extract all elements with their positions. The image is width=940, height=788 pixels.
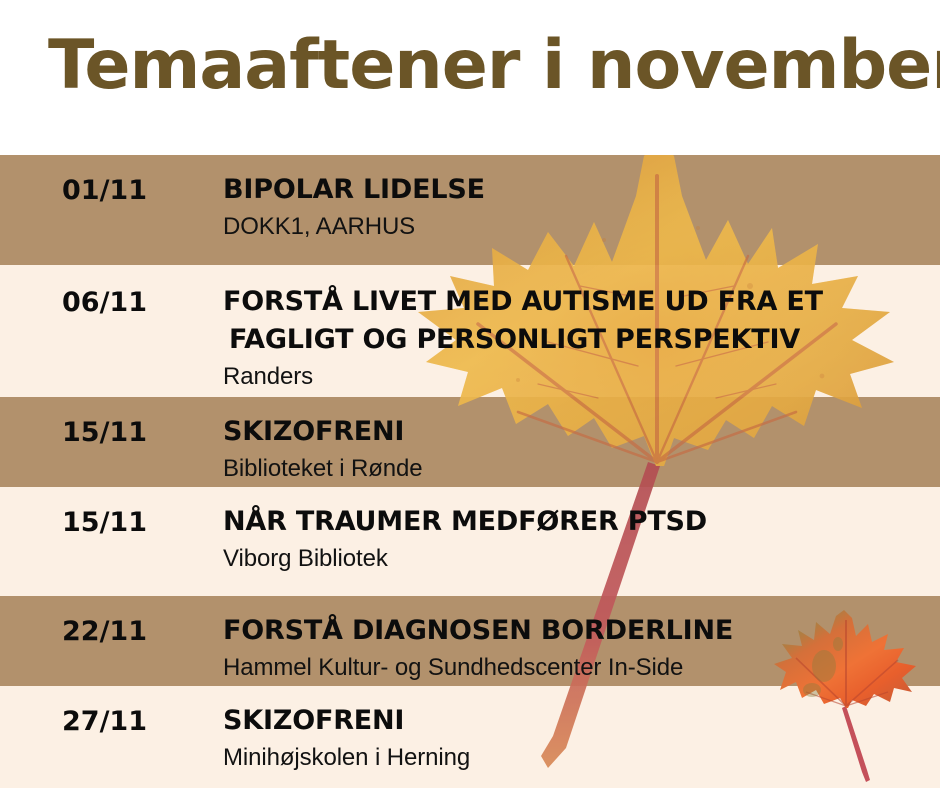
event-details: SKIZOFRENIBiblioteket i Rønde bbox=[223, 413, 940, 485]
title-area: Temaaftener i november bbox=[0, 0, 940, 155]
event-venue: Hammel Kultur- og Sundhedscenter In-Side bbox=[223, 652, 940, 684]
event-venue: DOKK1, AARHUS bbox=[223, 211, 940, 243]
event-details: SKIZOFRENIMinihøjskolen i Herning bbox=[223, 702, 940, 774]
event-details: BIPOLAR LIDELSEDOKK1, AARHUS bbox=[223, 171, 940, 243]
event-title-line-1: FORSTÅ DIAGNOSEN BORDERLINE bbox=[223, 615, 733, 646]
event-venue: Randers bbox=[223, 361, 940, 393]
event-title-line-1: SKIZOFRENI bbox=[223, 416, 404, 447]
page-title: Temaaftener i november bbox=[48, 24, 940, 108]
event-venue: Viborg Bibliotek bbox=[223, 543, 940, 575]
event-details: FORSTÅ DIAGNOSEN BORDERLINEHammel Kultur… bbox=[223, 612, 940, 684]
event-title: NÅR TRAUMER MEDFØRER PTSD bbox=[223, 503, 940, 541]
event-title: SKIZOFRENI bbox=[223, 413, 940, 451]
event-title: SKIZOFRENI bbox=[223, 702, 940, 740]
event-date: 27/11 bbox=[62, 706, 147, 737]
schedule-row[interactable]: 15/11NÅR TRAUMER MEDFØRER PTSDViborg Bib… bbox=[0, 487, 940, 596]
schedule-row[interactable]: 06/11FORSTÅ LIVET MED AUTISME UD FRA ETF… bbox=[0, 265, 940, 397]
poster-canvas: Temaaftener i november 01/11BIPOLAR LIDE… bbox=[0, 0, 940, 788]
schedule-row[interactable]: 01/11BIPOLAR LIDELSEDOKK1, AARHUS bbox=[0, 155, 940, 265]
schedule-row[interactable]: 22/11FORSTÅ DIAGNOSEN BORDERLINEHammel K… bbox=[0, 596, 940, 686]
event-date: 15/11 bbox=[62, 417, 147, 448]
event-date: 22/11 bbox=[62, 616, 147, 647]
event-title: BIPOLAR LIDELSE bbox=[223, 171, 940, 209]
event-title-line-1: BIPOLAR LIDELSE bbox=[223, 174, 485, 205]
event-title-line-1: SKIZOFRENI bbox=[223, 705, 404, 736]
schedule-row[interactable]: 27/11SKIZOFRENIMinihøjskolen i Herning bbox=[0, 686, 940, 788]
event-title: FORSTÅ LIVET MED AUTISME UD FRA ETFAGLIG… bbox=[223, 283, 940, 359]
event-title-line-1: NÅR TRAUMER MEDFØRER PTSD bbox=[223, 506, 707, 537]
event-date: 06/11 bbox=[62, 287, 147, 318]
event-details: NÅR TRAUMER MEDFØRER PTSDViborg Bibliote… bbox=[223, 503, 940, 575]
event-venue: Minihøjskolen i Herning bbox=[223, 742, 940, 774]
event-date: 01/11 bbox=[62, 175, 147, 206]
event-details: FORSTÅ LIVET MED AUTISME UD FRA ETFAGLIG… bbox=[223, 283, 940, 393]
event-title-line-1: FORSTÅ LIVET MED AUTISME UD FRA ET bbox=[223, 286, 823, 317]
event-title-line-2: FAGLIGT OG PERSONLIGT PERSPEKTIV bbox=[223, 321, 940, 359]
event-venue: Biblioteket i Rønde bbox=[223, 453, 940, 485]
event-date: 15/11 bbox=[62, 507, 147, 538]
event-title: FORSTÅ DIAGNOSEN BORDERLINE bbox=[223, 612, 940, 650]
schedule-row[interactable]: 15/11SKIZOFRENIBiblioteket i Rønde bbox=[0, 397, 940, 487]
